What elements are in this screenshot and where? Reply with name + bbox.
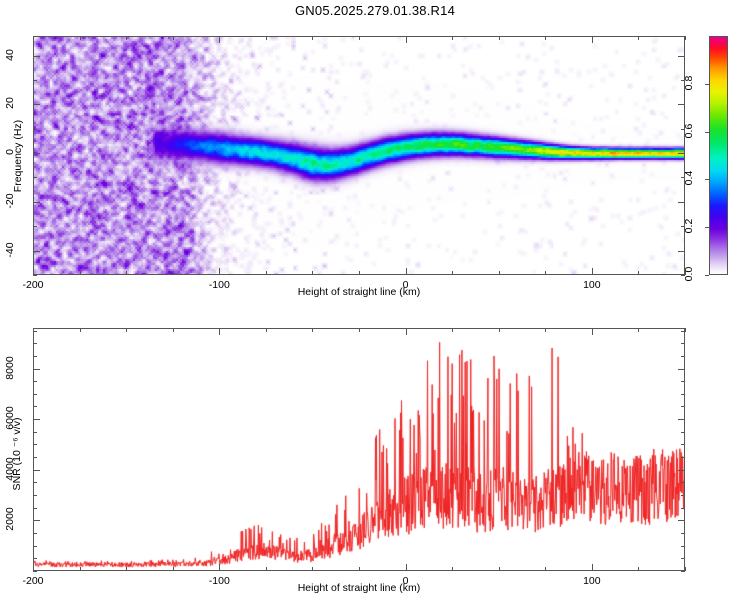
y-minor-tick <box>681 343 685 344</box>
y-tick-label: 8000 <box>4 348 16 388</box>
y-minor-tick <box>33 546 37 547</box>
x-minor-tick <box>638 271 639 275</box>
x-major-tick <box>219 268 220 275</box>
x-minor-tick <box>266 328 267 332</box>
y-major-tick <box>678 56 685 57</box>
spectrogram-panel <box>33 36 685 275</box>
figure-root: GN05.2025.279.01.38.R14 -200-10001004020… <box>0 0 750 600</box>
colorbar-tick <box>705 132 709 133</box>
y-major-tick <box>678 419 685 420</box>
y-minor-tick <box>33 533 37 534</box>
x-major-tick <box>406 564 407 571</box>
y-minor-tick <box>33 482 37 483</box>
spectrogram-image <box>34 37 684 274</box>
x-minor-tick <box>80 271 81 275</box>
x-minor-tick <box>452 36 453 40</box>
y-major-tick <box>678 369 685 370</box>
y-major-tick <box>33 520 40 521</box>
x-major-tick <box>219 564 220 571</box>
x-minor-tick <box>685 36 686 40</box>
y-minor-tick <box>33 343 37 344</box>
y-tick-label: -40 <box>4 230 16 270</box>
x-minor-tick <box>545 567 546 571</box>
y-minor-tick <box>681 533 685 534</box>
y-minor-tick <box>681 571 685 572</box>
y-major-tick <box>33 153 40 154</box>
y-major-tick <box>33 56 40 57</box>
y-minor-tick <box>681 482 685 483</box>
x-minor-tick <box>499 567 500 571</box>
x-minor-tick <box>312 271 313 275</box>
spectrogram-xlabel: Height of straight line (km) <box>0 286 718 298</box>
y-minor-tick <box>681 444 685 445</box>
x-minor-tick <box>638 328 639 332</box>
y-minor-tick <box>681 394 685 395</box>
x-major-tick <box>406 36 407 43</box>
x-major-tick <box>406 328 407 335</box>
x-minor-tick <box>359 36 360 40</box>
y-minor-tick <box>33 432 37 433</box>
figure-title: GN05.2025.279.01.38.R14 <box>0 3 750 18</box>
y-major-tick <box>678 104 685 105</box>
x-minor-tick <box>312 567 313 571</box>
y-tick-label: 40 <box>4 35 16 75</box>
x-minor-tick <box>126 271 127 275</box>
y-minor-tick <box>33 495 37 496</box>
y-minor-tick <box>681 495 685 496</box>
y-major-tick <box>33 251 40 252</box>
y-minor-tick <box>681 331 685 332</box>
y-minor-tick <box>681 558 685 559</box>
y-minor-tick <box>33 177 37 178</box>
x-minor-tick <box>452 271 453 275</box>
x-minor-tick <box>126 36 127 40</box>
y-minor-tick <box>33 508 37 509</box>
snr-xlabel: Height of straight line (km) <box>0 582 718 594</box>
x-minor-tick <box>545 328 546 332</box>
x-minor-tick <box>359 567 360 571</box>
snr-panel <box>33 328 685 571</box>
y-major-tick <box>678 153 685 154</box>
y-minor-tick <box>33 381 37 382</box>
x-major-tick <box>33 268 34 275</box>
x-minor-tick <box>266 271 267 275</box>
y-minor-tick <box>33 571 37 572</box>
colorbar-tick <box>705 227 709 228</box>
y-minor-tick <box>33 457 37 458</box>
y-major-tick <box>33 369 40 370</box>
x-minor-tick <box>266 567 267 571</box>
x-minor-tick <box>359 271 360 275</box>
y-major-tick <box>33 470 40 471</box>
x-minor-tick <box>452 567 453 571</box>
y-minor-tick <box>33 129 37 130</box>
y-major-tick <box>678 202 685 203</box>
y-major-tick <box>33 202 40 203</box>
snr-trace <box>34 329 684 570</box>
x-minor-tick <box>499 271 500 275</box>
colorbar-tick-label: 0.4 <box>683 158 695 198</box>
colorbar-tick-label: 0.8 <box>683 63 695 103</box>
x-minor-tick <box>638 567 639 571</box>
x-minor-tick <box>452 328 453 332</box>
colorbar-tick-label: 0.0 <box>683 254 695 294</box>
colorbar-tick <box>705 179 709 180</box>
x-major-tick <box>592 328 593 335</box>
x-major-tick <box>33 564 34 571</box>
y-minor-tick <box>33 406 37 407</box>
x-major-tick <box>219 328 220 335</box>
y-minor-tick <box>33 331 37 332</box>
y-minor-tick <box>681 432 685 433</box>
x-minor-tick <box>266 36 267 40</box>
x-minor-tick <box>173 328 174 332</box>
y-major-tick <box>678 470 685 471</box>
x-minor-tick <box>173 271 174 275</box>
x-major-tick <box>33 36 34 43</box>
x-minor-tick <box>126 567 127 571</box>
y-minor-tick <box>681 406 685 407</box>
colorbar-tick <box>705 275 709 276</box>
x-major-tick <box>406 268 407 275</box>
y-minor-tick <box>33 80 37 81</box>
y-minor-tick <box>681 381 685 382</box>
y-minor-tick <box>33 356 37 357</box>
y-minor-tick <box>33 226 37 227</box>
x-minor-tick <box>545 271 546 275</box>
x-minor-tick <box>359 328 360 332</box>
x-minor-tick <box>80 328 81 332</box>
x-minor-tick <box>312 36 313 40</box>
x-minor-tick <box>499 328 500 332</box>
colorbar-tick <box>705 84 709 85</box>
y-minor-tick <box>33 394 37 395</box>
y-minor-tick <box>681 356 685 357</box>
x-minor-tick <box>80 36 81 40</box>
y-minor-tick <box>33 275 37 276</box>
y-minor-tick <box>33 558 37 559</box>
x-minor-tick <box>126 328 127 332</box>
y-major-tick <box>33 104 40 105</box>
x-minor-tick <box>312 328 313 332</box>
x-minor-tick <box>499 36 500 40</box>
x-minor-tick <box>638 36 639 40</box>
x-minor-tick <box>173 567 174 571</box>
x-minor-tick <box>685 567 686 571</box>
y-minor-tick <box>681 457 685 458</box>
colorbar-tick-label: 0.2 <box>683 206 695 246</box>
colorbar-tick-label: 0.6 <box>683 111 695 151</box>
x-major-tick <box>592 564 593 571</box>
y-minor-tick <box>681 546 685 547</box>
snr-ylabel: SNR (10 ⁻⁶ v/v) <box>11 389 23 519</box>
colorbar-gradient <box>709 36 728 275</box>
x-minor-tick <box>685 328 686 332</box>
y-major-tick <box>678 251 685 252</box>
x-major-tick <box>592 36 593 43</box>
y-minor-tick <box>681 508 685 509</box>
x-major-tick <box>592 268 593 275</box>
x-major-tick <box>219 36 220 43</box>
y-major-tick <box>33 419 40 420</box>
x-minor-tick <box>80 567 81 571</box>
y-minor-tick <box>33 444 37 445</box>
y-major-tick <box>678 520 685 521</box>
x-minor-tick <box>545 36 546 40</box>
spectrogram-ylabel: Frequency (Hz) <box>12 96 24 216</box>
x-minor-tick <box>173 36 174 40</box>
